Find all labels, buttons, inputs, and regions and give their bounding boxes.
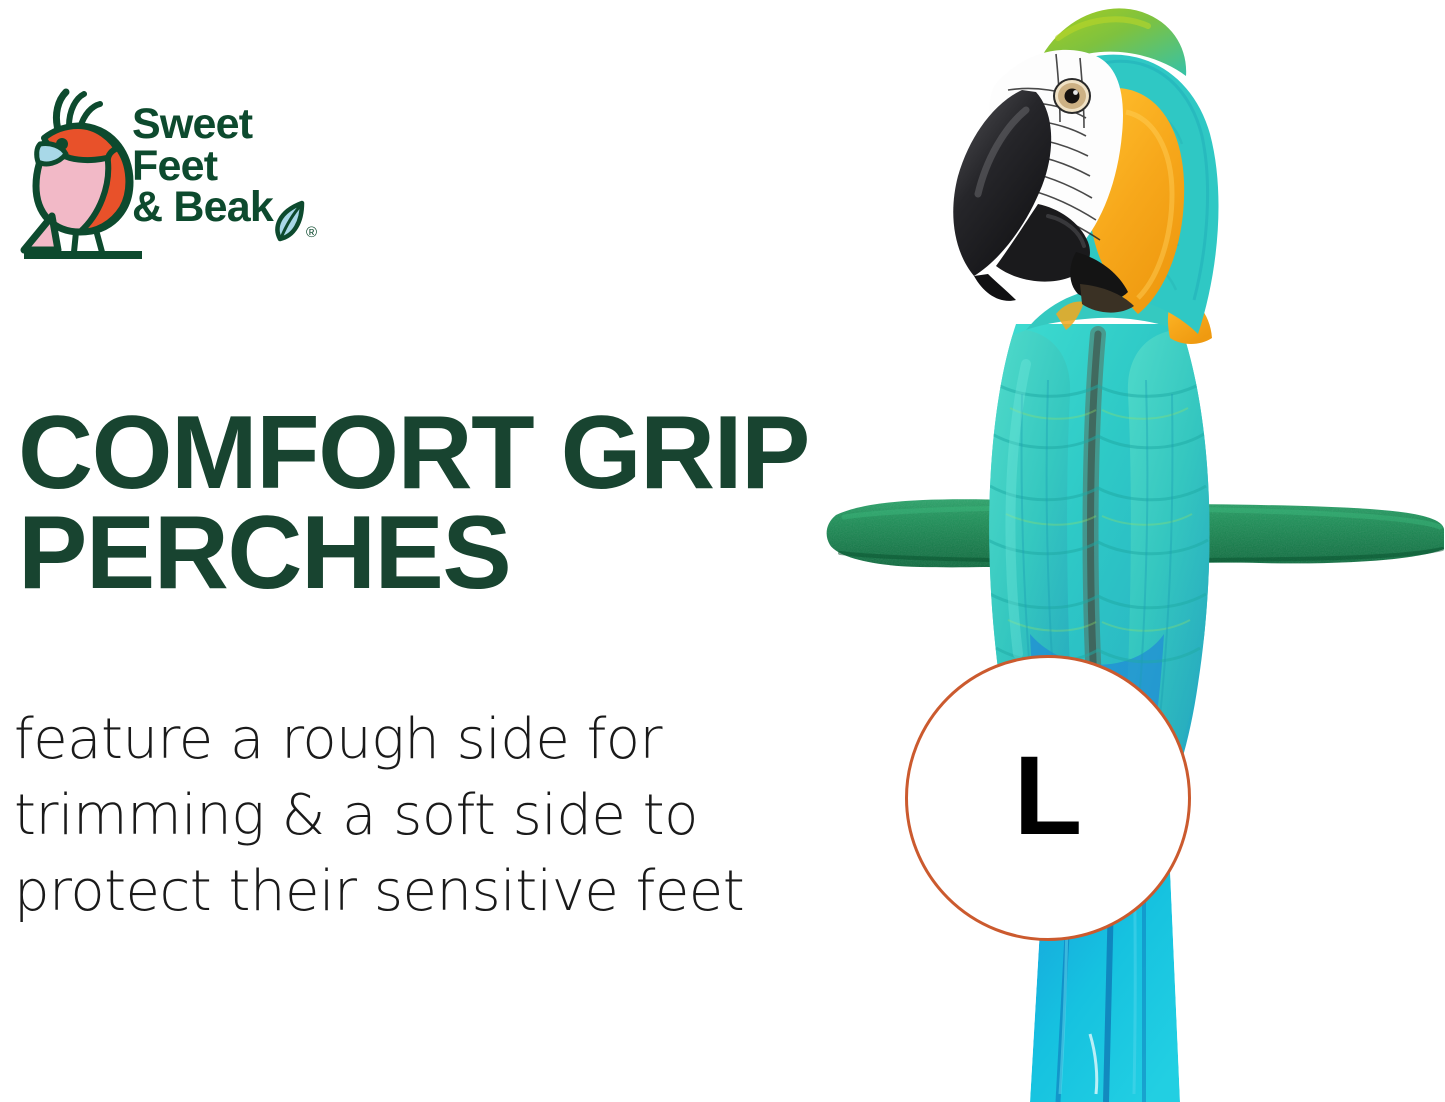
wordmark-line-1: Sweet	[132, 104, 332, 146]
product-marketing-banner: Sweet Feet & Beak ®	[0, 0, 1445, 1102]
leaf-icon	[272, 200, 306, 242]
body-copy-line-1: feature a rough side for	[14, 702, 814, 778]
size-badge-label: L	[1014, 740, 1082, 852]
headline-line-1: COMFORT GRIP	[18, 404, 1048, 504]
body-copy-line-3: protect their sensitive feet	[14, 854, 814, 930]
wordmark-line-2: Feet	[132, 146, 332, 188]
page-title: COMFORT GRIP PERCHES	[18, 404, 1048, 604]
body-copy-line-2: trimming & a soft side to	[14, 778, 814, 854]
size-badge: L	[905, 655, 1191, 941]
description-text: feature a rough side for trimming & a so…	[14, 702, 814, 930]
cockatiel-bird-on-perch-logo	[14, 82, 142, 262]
headline-line-2: PERCHES	[18, 504, 1048, 604]
brand-logo[interactable]: Sweet Feet & Beak ®	[14, 82, 324, 262]
registered-trademark-icon: ®	[306, 225, 317, 240]
